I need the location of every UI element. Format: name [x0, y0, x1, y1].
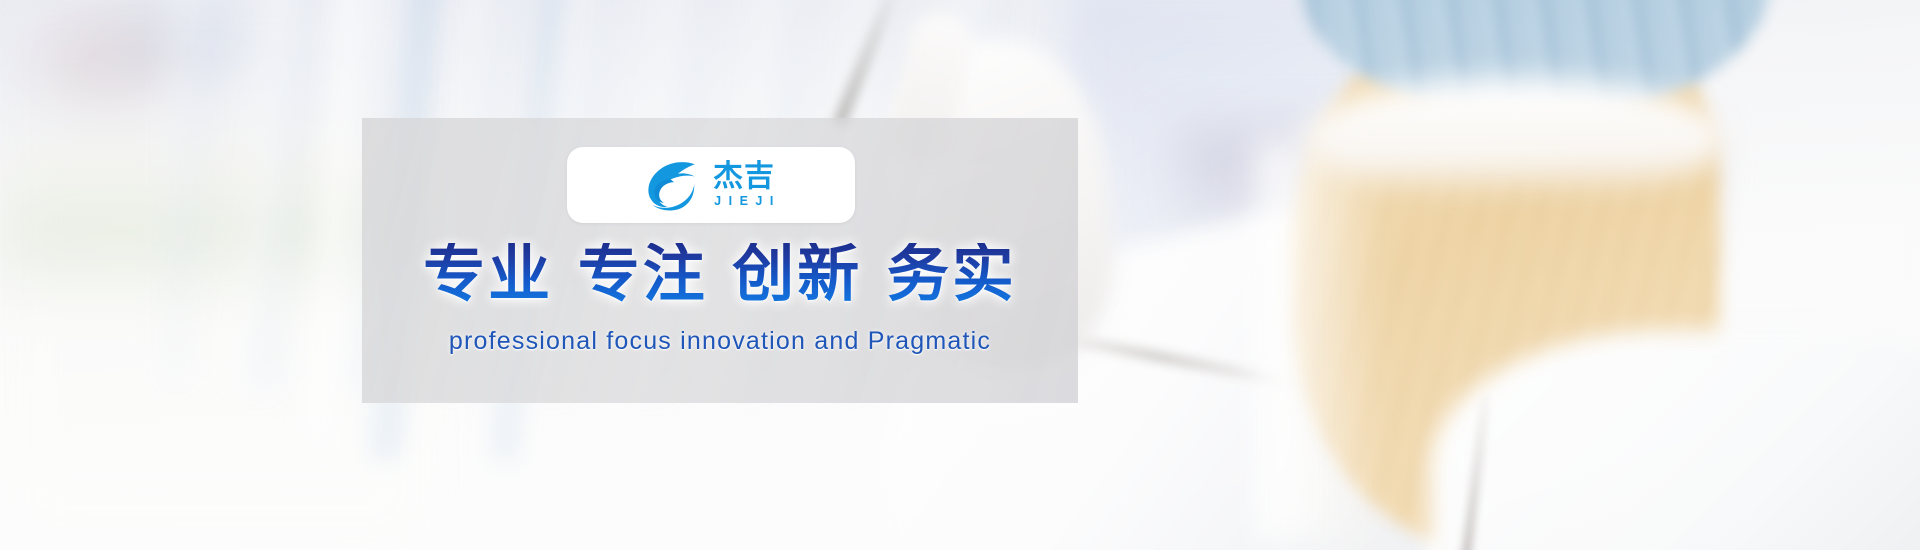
brand-wordmark: 杰吉 JIEJI: [707, 162, 781, 208]
brand-name-en: JIEJI: [714, 195, 781, 208]
hero-banner: 杰吉 JIEJI 专业 专注 创新 务实 professional focus …: [0, 0, 1920, 550]
slogan-subline: professional focus innovation and Pragma…: [362, 327, 1078, 356]
slogan-headline: 专业 专注 创新 务实: [362, 243, 1078, 305]
brand-logo[interactable]: 杰吉 JIEJI: [567, 147, 855, 223]
swirl-wave-icon: [641, 159, 697, 211]
brand-name-cn: 杰吉: [713, 162, 775, 192]
